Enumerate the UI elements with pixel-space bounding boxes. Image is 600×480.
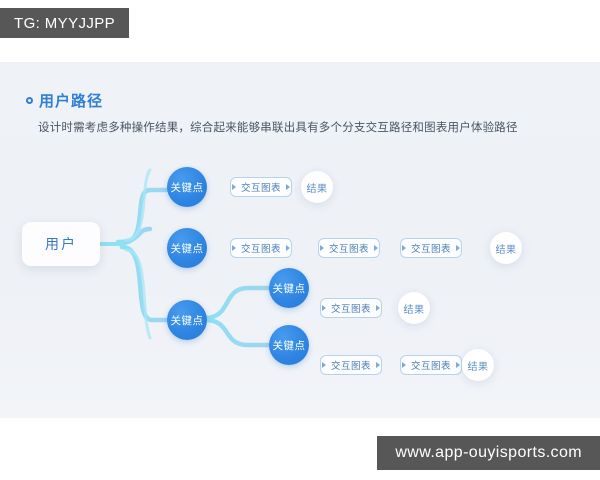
top-watermark-badge: TG: MYYJJPP [0,8,129,38]
node-keypoint[interactable]: 关键点 [269,325,309,365]
node-keypoint[interactable]: 关键点 [167,228,207,268]
node-chart-step-label: 交互图表 [329,241,369,255]
node-root-user[interactable]: 用户 [22,222,100,266]
bottom-watermark-text: www.app-ouyisports.com [395,444,582,462]
node-keypoint[interactable]: 关键点 [269,268,309,308]
node-chart-step-label: 交互图表 [411,358,451,372]
user-path-diagram: 用户 关键点 交互图表 结果 关键点 交互图表 交互图表 [0,62,600,418]
node-keypoint[interactable]: 关键点 [167,167,207,207]
node-result-label: 结果 [404,301,425,316]
node-keypoint-label: 关键点 [171,241,204,256]
node-result[interactable]: 结果 [398,292,430,324]
node-chart-step[interactable]: 交互图表 [230,177,292,197]
node-chart-step-label: 交互图表 [411,241,451,255]
chevron-right-icon [232,184,236,190]
node-keypoint-label: 关键点 [171,180,204,195]
top-watermark-text: TG: MYYJJPP [14,15,115,32]
node-chart-step-label: 交互图表 [241,180,281,194]
node-chart-step-label: 交互图表 [331,301,371,315]
node-keypoint-label: 关键点 [273,338,306,353]
node-keypoint-label: 关键点 [273,281,306,296]
node-chart-step-label: 交互图表 [331,358,371,372]
chevron-right-icon [322,362,326,368]
bottom-watermark-badge: www.app-ouyisports.com [377,436,600,470]
node-keypoint-label: 关键点 [171,313,204,328]
node-chart-step[interactable]: 交互图表 [400,355,462,375]
node-result-label: 结果 [468,358,489,373]
user-path-card: 用户路径 设计时需考虑多种操作结果，综合起来能够串联出具有多个分支交互路径和图表… [0,62,600,418]
node-chart-step-label: 交互图表 [241,241,281,255]
node-result[interactable]: 结果 [490,232,522,264]
chevron-right-icon [374,245,378,251]
node-chart-step[interactable]: 交互图表 [320,298,382,318]
chevron-right-icon [456,362,460,368]
chevron-right-icon [320,245,324,251]
node-root-label: 用户 [45,234,77,254]
node-chart-step[interactable]: 交互图表 [230,238,292,258]
node-chart-step[interactable]: 交互图表 [320,355,382,375]
node-keypoint[interactable]: 关键点 [167,300,207,340]
node-result[interactable]: 结果 [301,171,333,203]
chevron-right-icon [376,362,380,368]
chevron-right-icon [286,245,290,251]
chevron-right-icon [402,362,406,368]
node-result-label: 结果 [307,180,328,195]
chevron-right-icon [286,184,290,190]
chevron-right-icon [456,245,460,251]
chevron-right-icon [322,305,326,311]
node-chart-step[interactable]: 交互图表 [400,238,462,258]
chevron-right-icon [402,245,406,251]
node-chart-step[interactable]: 交互图表 [318,238,380,258]
node-result-label: 结果 [496,241,517,256]
node-result[interactable]: 结果 [462,349,494,381]
chevron-right-icon [232,245,236,251]
chevron-right-icon [376,305,380,311]
